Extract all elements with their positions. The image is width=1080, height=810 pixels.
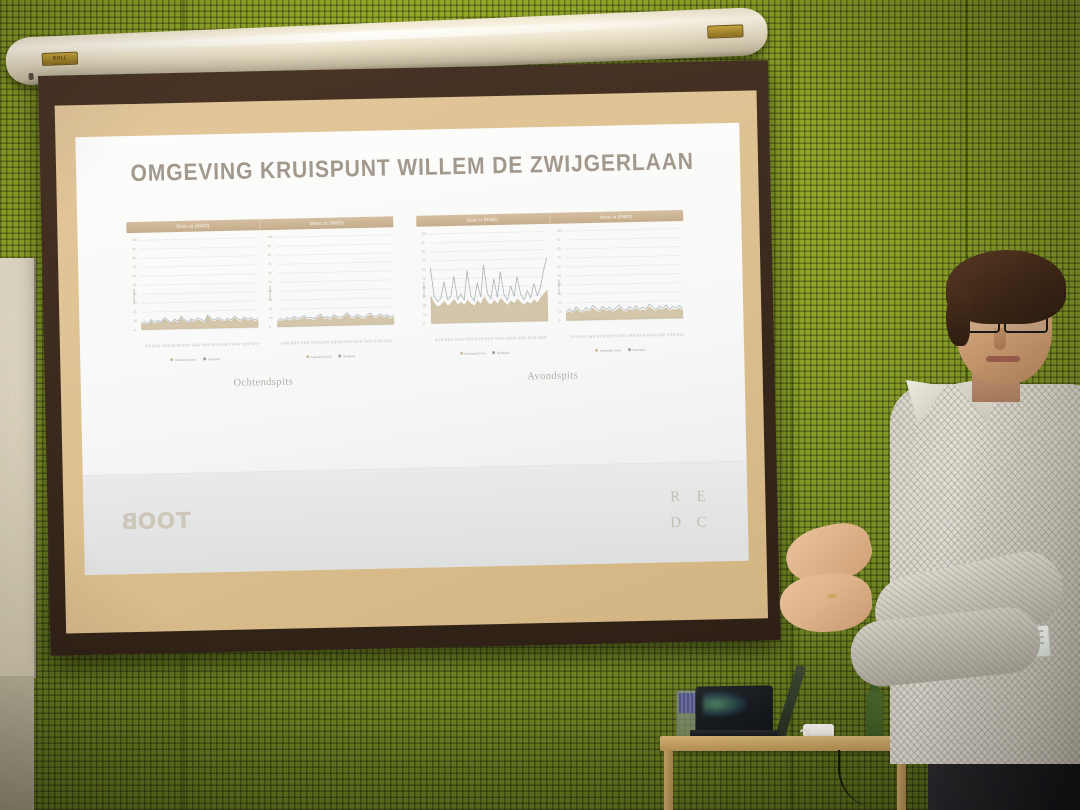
y-axis-tick: 80 bbox=[557, 246, 561, 250]
legend-label: Snelheid bbox=[497, 351, 509, 355]
y-axis-tick: 30 bbox=[558, 291, 562, 295]
y-axis-tick: 60 bbox=[422, 267, 426, 271]
y-axis-tick: 10 bbox=[558, 309, 562, 313]
redc-letter-r: R bbox=[662, 484, 689, 511]
y-axis-tick: 70 bbox=[132, 265, 136, 269]
y-axis-tick: 90 bbox=[267, 244, 271, 248]
x-axis-ticks: 15:0015:1515:3015:4516:0016:1516:3016:45… bbox=[431, 321, 548, 342]
y-axis-tick: 0 bbox=[134, 328, 136, 332]
presenter bbox=[780, 244, 1080, 810]
y-axis-tick: 40 bbox=[422, 285, 426, 289]
chart-header-west-in: West in (RWD) bbox=[550, 210, 683, 224]
presentation-photo-scene: BOLL OMGEVING KRUISPUNT WILLEM DE ZWIJGE… bbox=[0, 0, 1080, 810]
slide-surface: OMGEVING KRUISPUNT WILLEM DE ZWIJGERLAAN… bbox=[75, 123, 748, 575]
y-axis-tick: 50 bbox=[558, 273, 562, 277]
left-wall-panel-lower bbox=[0, 676, 34, 810]
series-canvas bbox=[275, 234, 393, 327]
laptop-screen bbox=[695, 685, 772, 733]
y-axis-tick: 30 bbox=[422, 294, 426, 298]
table-leg bbox=[664, 750, 673, 810]
y-axis-tick: 10 bbox=[269, 316, 273, 320]
laptop bbox=[690, 686, 776, 738]
legend-item: Snelheid bbox=[203, 357, 220, 361]
legend-swatch bbox=[203, 358, 206, 361]
chart-group-body: Intensiteit010203040506070809010015:0015… bbox=[416, 226, 685, 348]
chart-panel-oost-uit: Intensiteit010203040506070809010006:0006… bbox=[127, 235, 261, 354]
y-axis-tick: 60 bbox=[132, 274, 136, 278]
y-axis-tick: 20 bbox=[269, 307, 273, 311]
legend-item: Intensiteit (mvt) bbox=[170, 357, 196, 362]
y-axis-tick: 70 bbox=[557, 255, 561, 259]
screen-mat: OMGEVING KRUISPUNT WILLEM DE ZWIJGERLAAN… bbox=[55, 90, 768, 633]
y-axis-tick: 100 bbox=[557, 228, 562, 232]
y-axis-tick: 20 bbox=[558, 300, 562, 304]
y-axis-tick: 60 bbox=[268, 271, 272, 275]
chart-header-oost-uit: Oost uit (RWD) bbox=[126, 219, 260, 233]
legend-item: Snelheid bbox=[493, 351, 510, 355]
y-axis-tick: 50 bbox=[422, 276, 426, 280]
laptop-wallpaper bbox=[703, 691, 748, 717]
y-axis-tick: 70 bbox=[268, 262, 272, 266]
caption-avondspits: Avondspits bbox=[419, 368, 686, 385]
y-axis-tick: 40 bbox=[133, 292, 137, 296]
chart-group-avondspits: Oost in (RWD) West in (RWD) Intensiteit0… bbox=[416, 210, 687, 385]
y-axis-tick: 50 bbox=[133, 283, 137, 287]
presenter-hand-lower bbox=[778, 571, 874, 635]
slide-footer: BOOT R E D C bbox=[83, 461, 749, 575]
legend-swatch bbox=[170, 358, 173, 361]
y-axis-tick: 0 bbox=[559, 319, 561, 323]
roller-badge-right bbox=[707, 24, 744, 38]
y-axis-tick: 90 bbox=[421, 240, 425, 244]
series-canvas bbox=[565, 228, 683, 321]
y-axis-tick: 0 bbox=[423, 321, 425, 325]
mouth bbox=[986, 356, 1020, 362]
x-axis-ticks: 06:0006:1506:3006:4507:0007:1507:3007:45… bbox=[142, 327, 259, 348]
plot-area bbox=[275, 234, 393, 327]
y-axis-tick: 0 bbox=[269, 325, 271, 329]
chart-panel-west-in: Intensiteit010203040506070809010015:0015… bbox=[552, 226, 686, 345]
line-series bbox=[430, 258, 547, 302]
y-axis-tick: 20 bbox=[133, 310, 137, 314]
y-axis-tick: 100 bbox=[132, 238, 137, 242]
chart-legend: Intensiteit (mvt)Snelheid bbox=[265, 353, 397, 360]
redc-letter-d: D bbox=[662, 510, 689, 537]
y-axis-tick: 10 bbox=[133, 319, 137, 323]
y-axis-tick: 100 bbox=[267, 235, 272, 239]
legend-label: Intensiteit (mvt) bbox=[175, 357, 196, 361]
chart-group-header: Oost uit (RWD) West uit (RWD) bbox=[126, 216, 393, 233]
roller-screw bbox=[28, 73, 33, 80]
y-axis-tick: 90 bbox=[132, 247, 136, 251]
chart-header-west-uit: West uit (RWD) bbox=[260, 216, 393, 230]
y-axis-tick: 80 bbox=[132, 256, 136, 260]
plot-area bbox=[140, 237, 258, 330]
y-axis-tick: 80 bbox=[422, 249, 426, 253]
legend-swatch bbox=[493, 351, 496, 354]
y-axis-tick: 70 bbox=[422, 258, 426, 262]
legend-label: Snelheid bbox=[343, 354, 355, 358]
legend-item: Snelheid bbox=[339, 354, 356, 358]
y-axis-tick: 10 bbox=[423, 312, 427, 316]
legend-swatch bbox=[306, 356, 309, 359]
plot-area bbox=[429, 231, 547, 324]
series-canvas bbox=[140, 237, 258, 330]
legend-swatch bbox=[628, 348, 631, 351]
series-canvas bbox=[429, 231, 547, 324]
legend-swatch bbox=[339, 355, 342, 358]
slide-title: OMGEVING KRUISPUNT WILLEM DE ZWIJGERLAAN bbox=[130, 148, 694, 187]
legend-item: Intensiteit (mvt) bbox=[460, 351, 486, 356]
x-axis-ticks: 06:0006:1506:3006:4507:0007:1507:3007:45… bbox=[277, 324, 394, 345]
boot-logo: BOOT bbox=[120, 508, 192, 535]
y-axis-tick: 50 bbox=[268, 280, 272, 284]
legend-item: Intensiteit (mvt) bbox=[595, 348, 621, 353]
chart-header-oost-in: Oost in (RWD) bbox=[416, 213, 550, 227]
legend-label: Snelheid bbox=[633, 348, 645, 352]
hair-sideburn bbox=[946, 290, 970, 346]
redc-logo: R E D C bbox=[662, 484, 715, 537]
legend-item: Snelheid bbox=[628, 348, 645, 352]
plot-area bbox=[565, 228, 683, 321]
y-axis-tick: 100 bbox=[421, 231, 426, 235]
left-wall-panel bbox=[0, 258, 36, 678]
y-axis-tick: 80 bbox=[268, 253, 272, 257]
chart-panel-oost-in: Intensiteit010203040506070809010015:0015… bbox=[416, 229, 550, 348]
area-series bbox=[430, 290, 547, 323]
y-axis-tick: 30 bbox=[268, 298, 272, 302]
chart-legend: Intensiteit (mvt)Snelheid bbox=[419, 350, 551, 357]
legend-swatch bbox=[595, 349, 598, 352]
chart-legend: Intensiteit (mvt)Snelheid bbox=[129, 356, 261, 363]
redc-letter-e: E bbox=[688, 484, 715, 511]
y-axis-tick: 60 bbox=[557, 264, 561, 268]
chart-group-body: Intensiteit010203040506070809010006:0006… bbox=[127, 232, 396, 354]
chart-panel-west-uit: Intensiteit010203040506070809010006:0006… bbox=[262, 232, 396, 351]
legend-label: Snelheid bbox=[208, 357, 220, 361]
legend-item: Intensiteit (mvt) bbox=[306, 355, 332, 360]
y-axis-tick: 40 bbox=[558, 282, 562, 286]
projection-screen-frame: OMGEVING KRUISPUNT WILLEM DE ZWIJGERLAAN… bbox=[38, 60, 780, 656]
y-axis-tick: 20 bbox=[423, 303, 427, 307]
legend-swatch bbox=[460, 352, 463, 355]
y-axis-tick: 90 bbox=[557, 237, 561, 241]
redc-letter-c: C bbox=[688, 510, 715, 537]
legend-label: Intensiteit (mvt) bbox=[600, 348, 621, 352]
x-axis-ticks: 15:0015:1515:3015:4516:0016:1516:3016:45… bbox=[567, 318, 684, 339]
legend-label: Intensiteit (mvt) bbox=[310, 355, 331, 359]
chart-legend: Intensiteit (mvt)Snelheid bbox=[554, 347, 686, 354]
y-axis-tick: 40 bbox=[268, 289, 272, 293]
chart-group-header: Oost in (RWD) West in (RWD) bbox=[416, 210, 683, 227]
legend-label: Intensiteit (mvt) bbox=[464, 351, 485, 355]
caption-ochtendspits: Ochtendspits bbox=[130, 374, 397, 391]
chart-group-ochtendspits: Oost uit (RWD) West uit (RWD) Intensitei… bbox=[126, 216, 397, 391]
roller-badge-left: BOLL bbox=[42, 52, 79, 66]
y-axis-tick: 30 bbox=[133, 301, 137, 305]
